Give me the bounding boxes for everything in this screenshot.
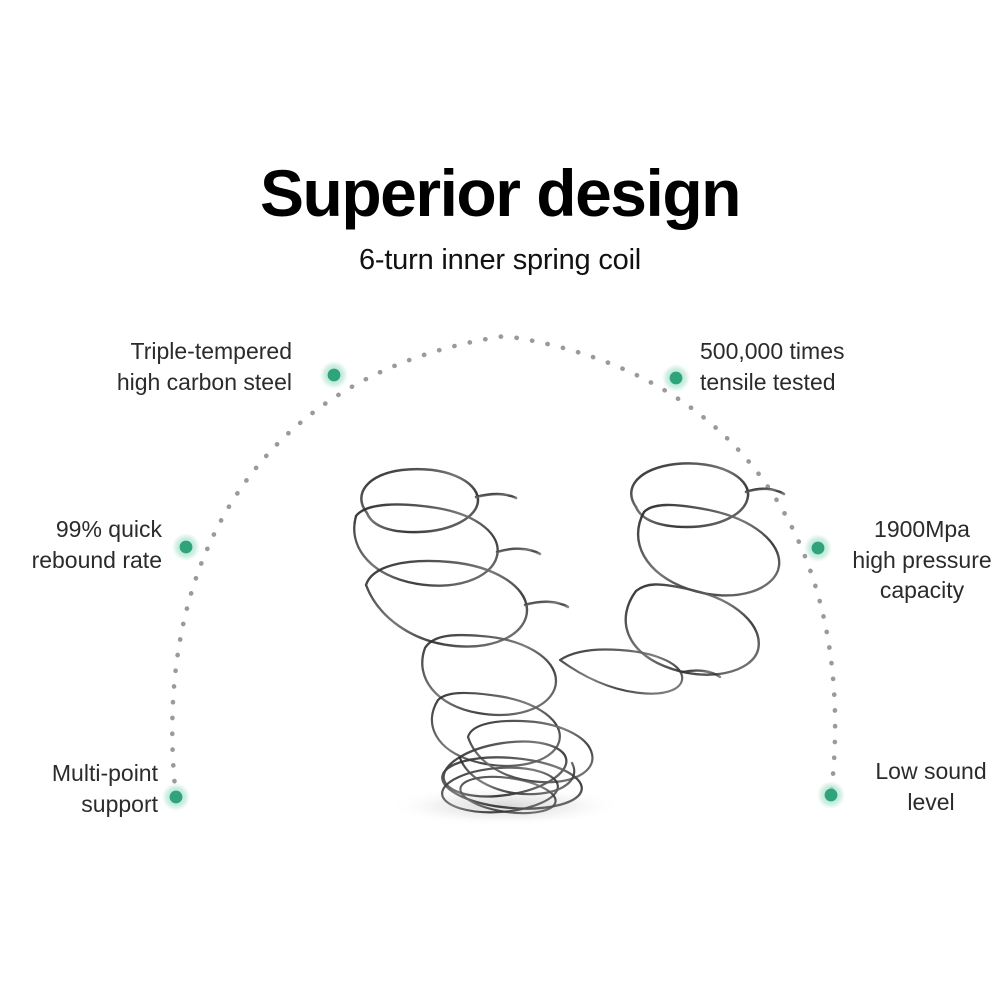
spring-coil-illustration xyxy=(354,463,784,826)
feature-label-pressure-capacity: 1900Mpa high pressure capacity xyxy=(842,514,1000,606)
marker-pressure-capacity[interactable] xyxy=(804,534,832,562)
feature-label-tensile-tested: 500,000 times tensile tested xyxy=(700,336,970,397)
marker-triple-tempered[interactable] xyxy=(320,361,348,389)
feature-label-low-sound-level: Low sound level xyxy=(856,756,1000,817)
infographic-root: Superior design 6-turn inner spring coil xyxy=(0,0,1000,1000)
feature-label-multi-point-support: Multi-point support xyxy=(0,758,158,819)
diagram-canvas xyxy=(0,0,1000,1000)
dotted-arc xyxy=(172,336,835,797)
feature-label-triple-tempered: Triple-tempered high carbon steel xyxy=(32,336,292,397)
feature-label-rebound-rate: 99% quick rebound rate xyxy=(0,514,162,575)
marker-tensile-tested[interactable] xyxy=(662,364,690,392)
marker-multi-point-support[interactable] xyxy=(162,783,190,811)
marker-rebound-rate[interactable] xyxy=(172,533,200,561)
marker-low-sound-level[interactable] xyxy=(817,781,845,809)
